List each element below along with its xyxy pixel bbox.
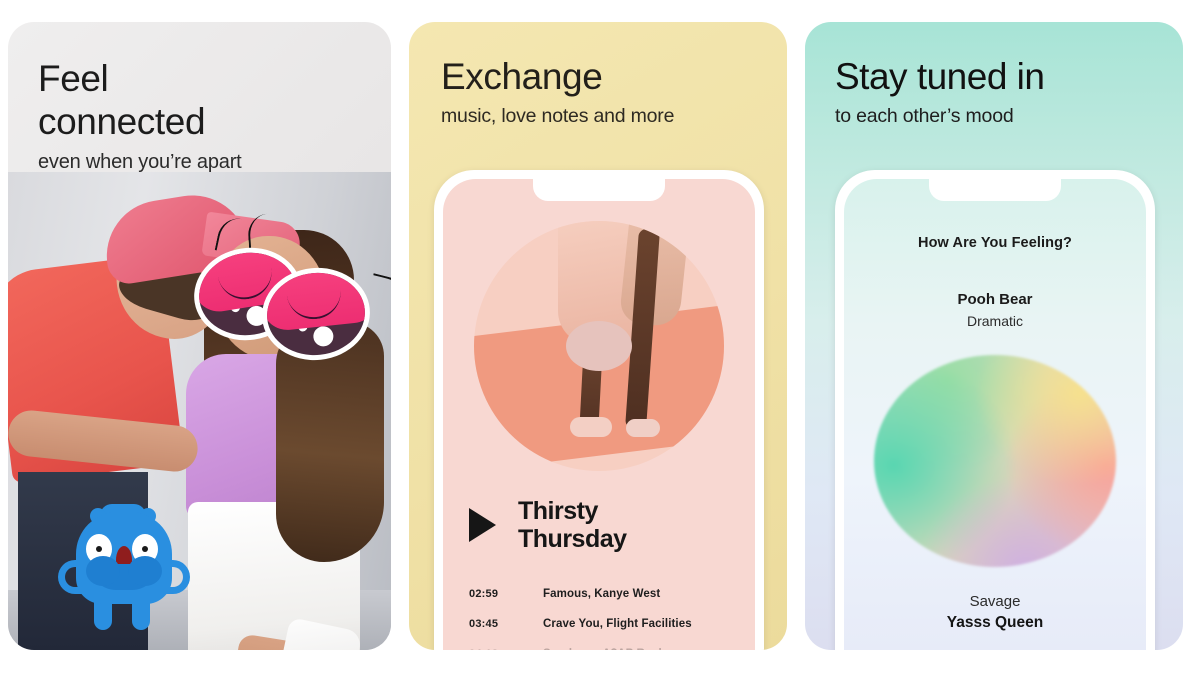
- app-store-screenshot-gallery: Feel connected even when you’re apart: [0, 0, 1200, 675]
- couple-photo: [8, 172, 391, 650]
- partner-mood: Dramatic: [844, 313, 1146, 329]
- mood-screen-heading: How Are You Feeling?: [844, 235, 1146, 251]
- track-row[interactable]: 02:59 Famous, Kanye West: [469, 579, 741, 609]
- album-artwork[interactable]: [474, 221, 724, 471]
- lens-highlight-large: [312, 325, 334, 347]
- self-mood: Yasss Queen: [844, 614, 1146, 632]
- panel3-headline-block: Stay tuned in to each other’s mood: [835, 56, 1044, 128]
- panel2-headline-block: Exchange music, love notes and more: [441, 56, 674, 128]
- mascot-leg-right: [132, 600, 150, 630]
- track-name: Sundress, A$AP Rocky: [543, 648, 672, 650]
- mascot-pupil: [96, 546, 102, 552]
- panel2-subhead: music, love notes and more: [441, 105, 674, 128]
- screenshot-panel-stay-tuned-in[interactable]: Stay tuned in to each other’s mood How A…: [805, 22, 1183, 650]
- screenshot-panel-feel-connected[interactable]: Feel connected even when you’re apart: [8, 22, 391, 650]
- self-mood-block: Savage Yasss Queen: [844, 593, 1146, 632]
- mood-gradient-blob[interactable]: [874, 355, 1116, 567]
- artwork-shoe-left: [570, 417, 612, 437]
- blue-mascot-icon: [70, 502, 178, 632]
- track-duration: 02:59: [469, 588, 543, 600]
- track-name: Famous, Kanye West: [543, 588, 660, 600]
- panel3-subhead: to each other’s mood: [835, 105, 1044, 128]
- sunglass-lens-right: [257, 263, 374, 366]
- panel1-subhead: even when you’re apart: [38, 151, 242, 174]
- track-duration: 03:45: [469, 618, 543, 630]
- track-duration: 04:12: [469, 648, 543, 650]
- now-playing-row: Thirsty Thursday: [469, 497, 627, 553]
- track-row[interactable]: 03:45 Crave You, Flight Facilities: [469, 609, 741, 639]
- partner-name: Pooh Bear: [844, 291, 1146, 308]
- track-name: Crave You, Flight Facilities: [543, 618, 692, 630]
- screenshot-panel-exchange[interactable]: Exchange music, love notes and more: [409, 22, 787, 650]
- self-name: Savage: [844, 593, 1146, 610]
- mood-screen: How Are You Feeling? Pooh Bear Dramatic …: [844, 179, 1146, 650]
- music-player-screen: Thirsty Thursday 02:59 Famous, Kanye Wes…: [443, 179, 755, 650]
- mascot-leg-left: [94, 600, 112, 630]
- track-list: 02:59 Famous, Kanye West 03:45 Crave You…: [469, 579, 741, 650]
- play-icon[interactable]: [469, 508, 496, 542]
- mascot-pupil: [142, 546, 148, 552]
- playlist-title: Thirsty Thursday: [518, 497, 627, 553]
- phone-mockup-mood: How Are You Feeling? Pooh Bear Dramatic …: [835, 170, 1155, 650]
- panel1-headline-block: Feel connected even when you’re apart: [38, 58, 242, 174]
- panel2-headline: Exchange: [441, 56, 674, 98]
- phone-notch: [929, 179, 1061, 201]
- panel3-headline: Stay tuned in: [835, 56, 1044, 98]
- playlist-title-line1: Thirsty: [518, 497, 598, 525]
- partner-mood-block: Pooh Bear Dramatic: [844, 291, 1146, 329]
- artwork-shoe-right: [626, 419, 660, 437]
- playlist-title-line2: Thursday: [518, 525, 627, 553]
- phone-mockup-music: Thirsty Thursday 02:59 Famous, Kanye Wes…: [434, 170, 764, 650]
- vinyl-center-hole: [566, 321, 632, 371]
- phone-notch: [533, 179, 665, 201]
- panel1-headline-line1: Feel: [38, 58, 242, 101]
- panel1-headline-line2: connected: [38, 101, 242, 144]
- track-row[interactable]: 04:12 Sundress, A$AP Rocky: [469, 639, 741, 650]
- cartoon-sunglasses-icon: [194, 234, 384, 360]
